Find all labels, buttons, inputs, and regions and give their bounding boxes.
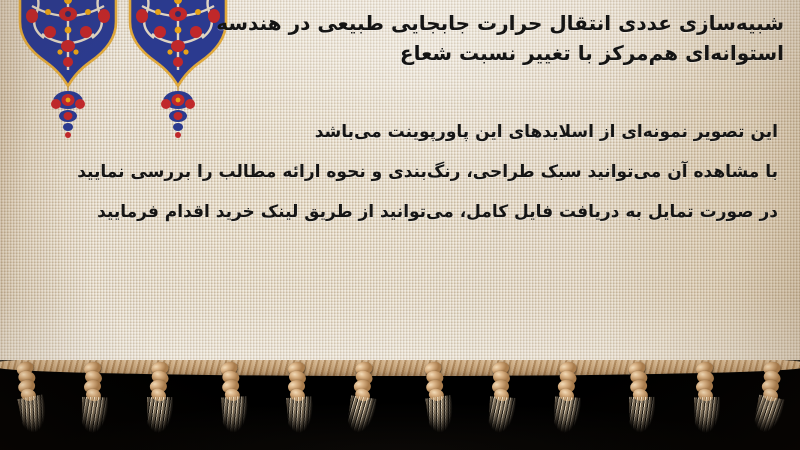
body-line-1: این تصویر نمونه‌ای از اسلایدهای این پاور… <box>18 112 778 152</box>
tassel-threads <box>286 396 316 450</box>
tassel-threads <box>552 396 581 450</box>
title-line-2: استوانه‌ای هم‌مرکز با تغییر نسبت شعاع <box>224 38 784 68</box>
slide-title: شبیه‌سازی عددی انتقال حرارت جابجایی طبیع… <box>224 8 784 68</box>
slide-canvas: شبیه‌سازی عددی انتقال حرارت جابجایی طبیع… <box>0 0 800 450</box>
tassel-threads <box>147 397 173 450</box>
tassel-threads <box>221 396 250 450</box>
tassel-threads <box>81 397 108 450</box>
slide-body: این تصویر نمونه‌ای از اسلایدهای این پاور… <box>18 112 778 232</box>
title-line-1: شبیه‌سازی عددی انتقال حرارت جابجایی طبیع… <box>224 8 784 38</box>
carpet-fringe <box>0 360 800 450</box>
tassel-threads <box>694 397 721 450</box>
tassel-threads <box>629 397 655 450</box>
body-line-3: در صورت تمایل به دریافت فایل کامل، می‌تو… <box>18 192 778 232</box>
body-line-2: با مشاهده آن می‌توانید سبک طراحی، رنگ‌بن… <box>18 152 778 192</box>
tassel-threads <box>486 396 516 450</box>
